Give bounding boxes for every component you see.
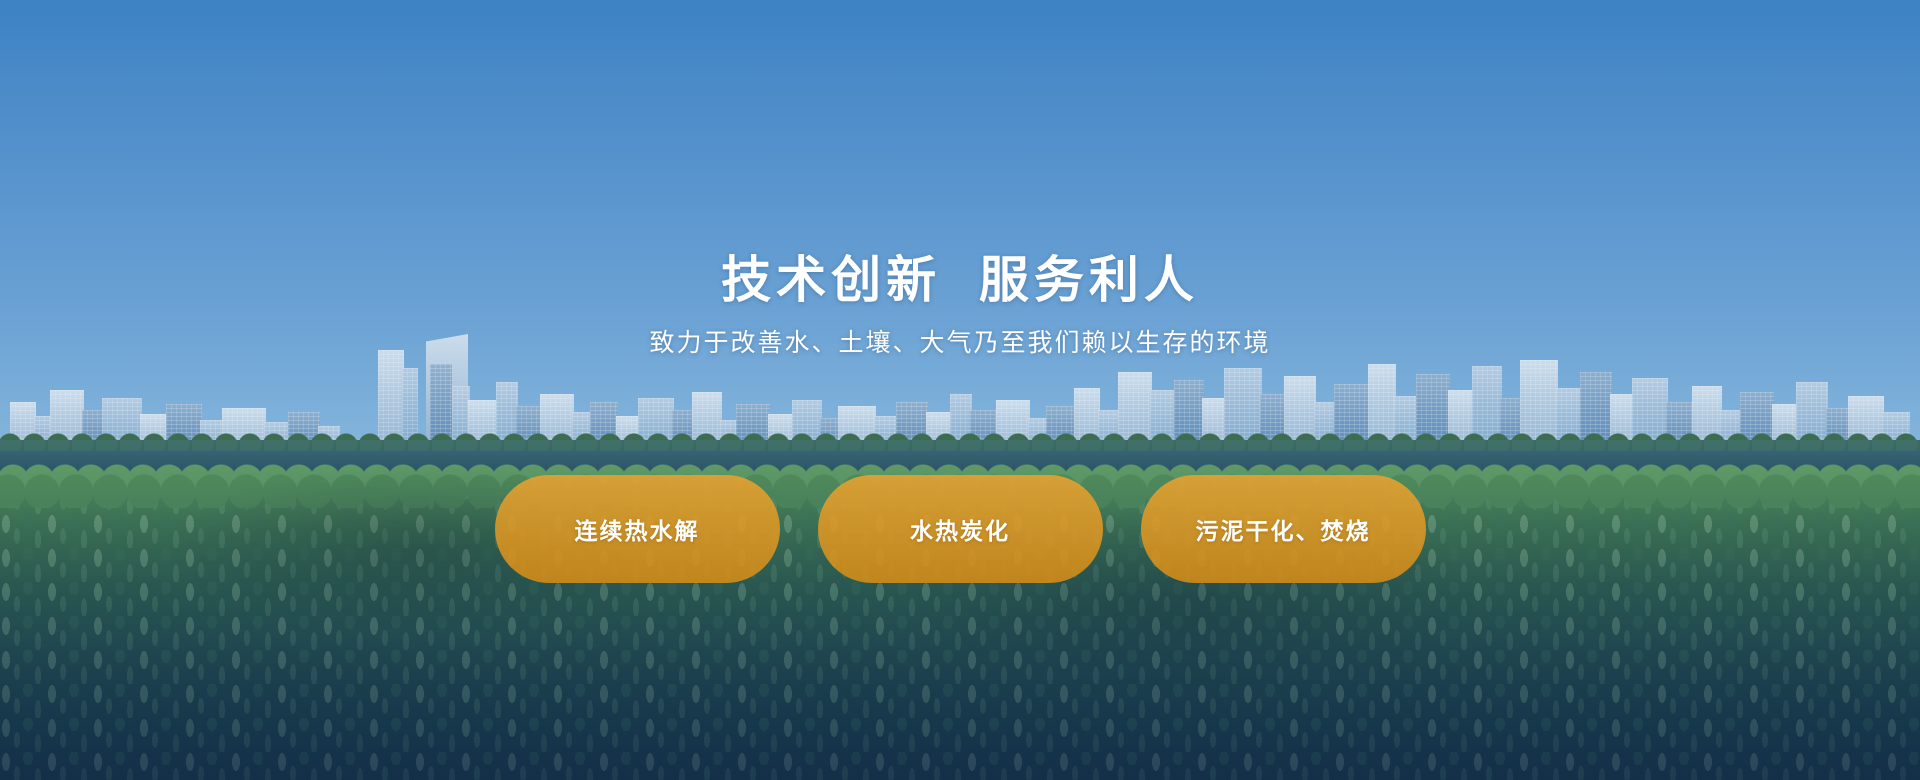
- cta-button-label: 连续热水解: [575, 512, 700, 546]
- sky-background: [0, 0, 1920, 460]
- cta-button-label: 水热炭化: [910, 512, 1010, 546]
- cta-button-hydrothermal-carbonization[interactable]: 水热炭化: [818, 475, 1103, 583]
- cta-button-sludge-drying-incineration[interactable]: 污泥干化、焚烧: [1141, 475, 1426, 583]
- hero-banner: 技术创新 服务利人 致力于改善水、土壤、大气乃至我们赖以生存的环境 连续热水解 …: [0, 0, 1920, 780]
- cta-button-label: 污泥干化、焚烧: [1196, 512, 1371, 546]
- cta-button-continuous-thermal-hydrolysis[interactable]: 连续热水解: [495, 475, 780, 583]
- hero-cta-group: 连续热水解 水热炭化 污泥干化、焚烧: [0, 475, 1920, 587]
